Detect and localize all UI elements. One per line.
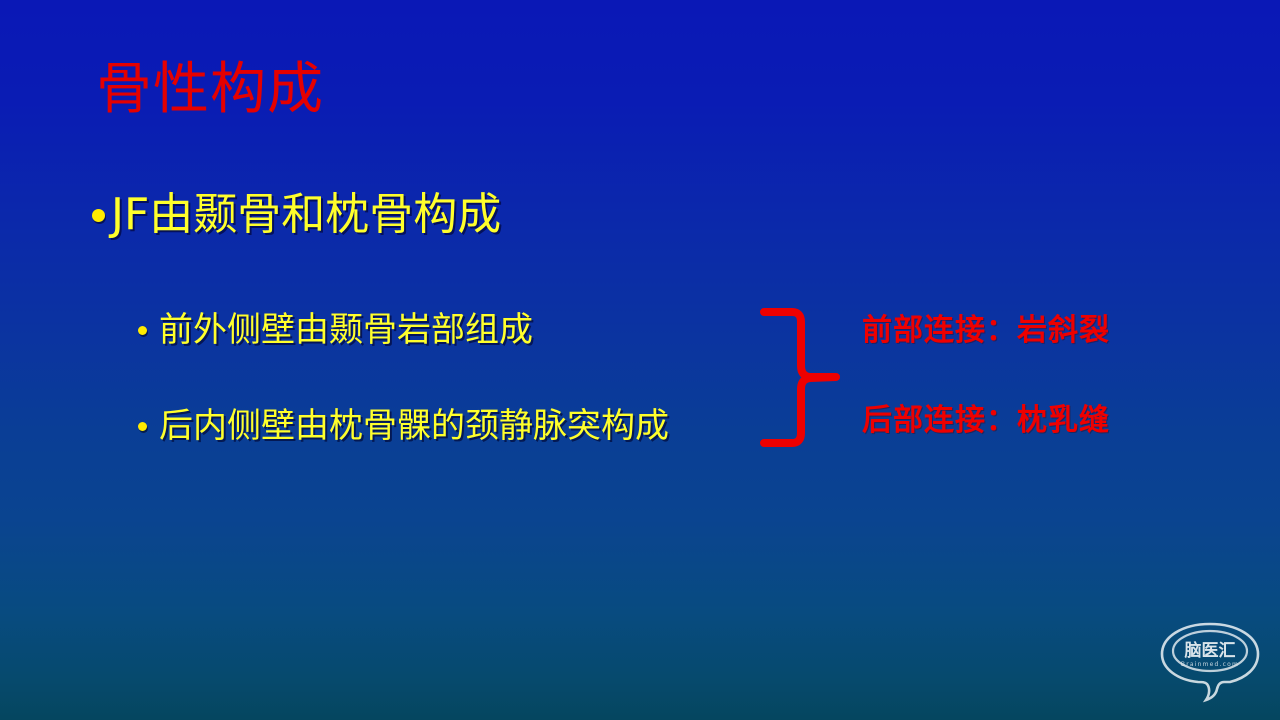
bullet-dot-icon bbox=[138, 422, 147, 431]
slide-title: 骨性构成 bbox=[96, 58, 324, 122]
bullet-level2-item: 后内侧壁由枕骨髁的颈静脉突构成 bbox=[138, 408, 669, 445]
logo-name: 脑医汇 bbox=[1185, 640, 1236, 661]
presentation-slide: 骨性构成 JF由颞骨和枕骨构成 前外侧壁由颞骨岩部组成 后内侧壁由枕骨髁的颈静脉… bbox=[0, 0, 1280, 720]
bullet-level2-item: 前外侧壁由颞骨岩部组成 bbox=[138, 312, 533, 349]
bullet-level1-item: JF由颞骨和枕骨构成 bbox=[92, 191, 501, 239]
bullet-dot-icon bbox=[92, 209, 105, 222]
bullet-level1-label: JF由颞骨和枕骨构成 bbox=[111, 191, 501, 239]
annotation-anterior: 前部连接：岩斜裂 bbox=[862, 305, 1110, 349]
logo-subtitle: Brainmed.com bbox=[1181, 661, 1239, 668]
bullet-level2-label: 前外侧壁由颞骨岩部组成 bbox=[159, 312, 533, 349]
red-brace-icon bbox=[758, 300, 848, 455]
bullet-level2-label: 后内侧壁由枕骨髁的颈静脉突构成 bbox=[159, 408, 669, 445]
bullet-dot-icon bbox=[138, 326, 147, 335]
annotation-posterior: 后部连接：枕乳缝 bbox=[862, 395, 1110, 439]
brainmed-logo-icon: 脑医汇 Brainmed.com bbox=[1154, 618, 1266, 706]
